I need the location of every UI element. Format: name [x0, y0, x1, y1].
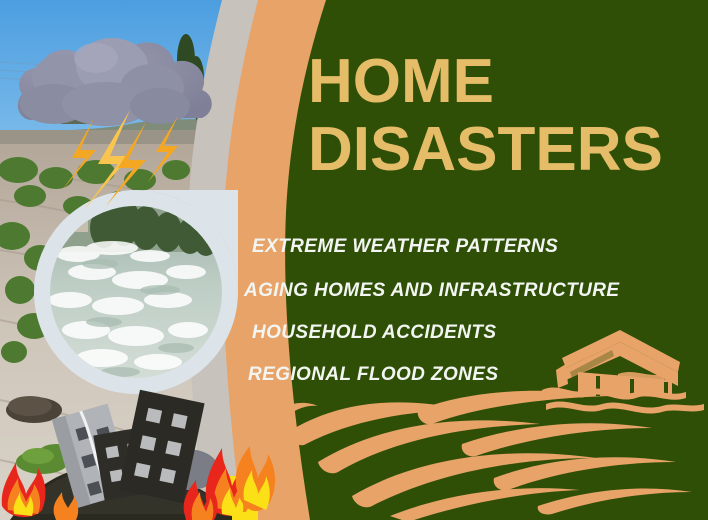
list-item: AGING HOMES AND INFRASTRUCTURE [244, 280, 664, 302]
list-item: REGIONAL FLOOD ZONES [248, 364, 664, 386]
list-item: EXTREME WEATHER PATTERNS [252, 236, 664, 258]
poster-canvas: HOME DISASTERS EXTREME WEATHER PATTERNS … [0, 0, 708, 520]
disaster-list: EXTREME WEATHER PATTERNS AGING HOMES AND… [244, 236, 664, 386]
list-item: HOUSEHOLD ACCIDENTS [252, 322, 664, 344]
title-line-2: DISASTERS [308, 116, 688, 184]
page-title: HOME DISASTERS [308, 48, 688, 184]
title-line-1: HOME [308, 48, 688, 116]
